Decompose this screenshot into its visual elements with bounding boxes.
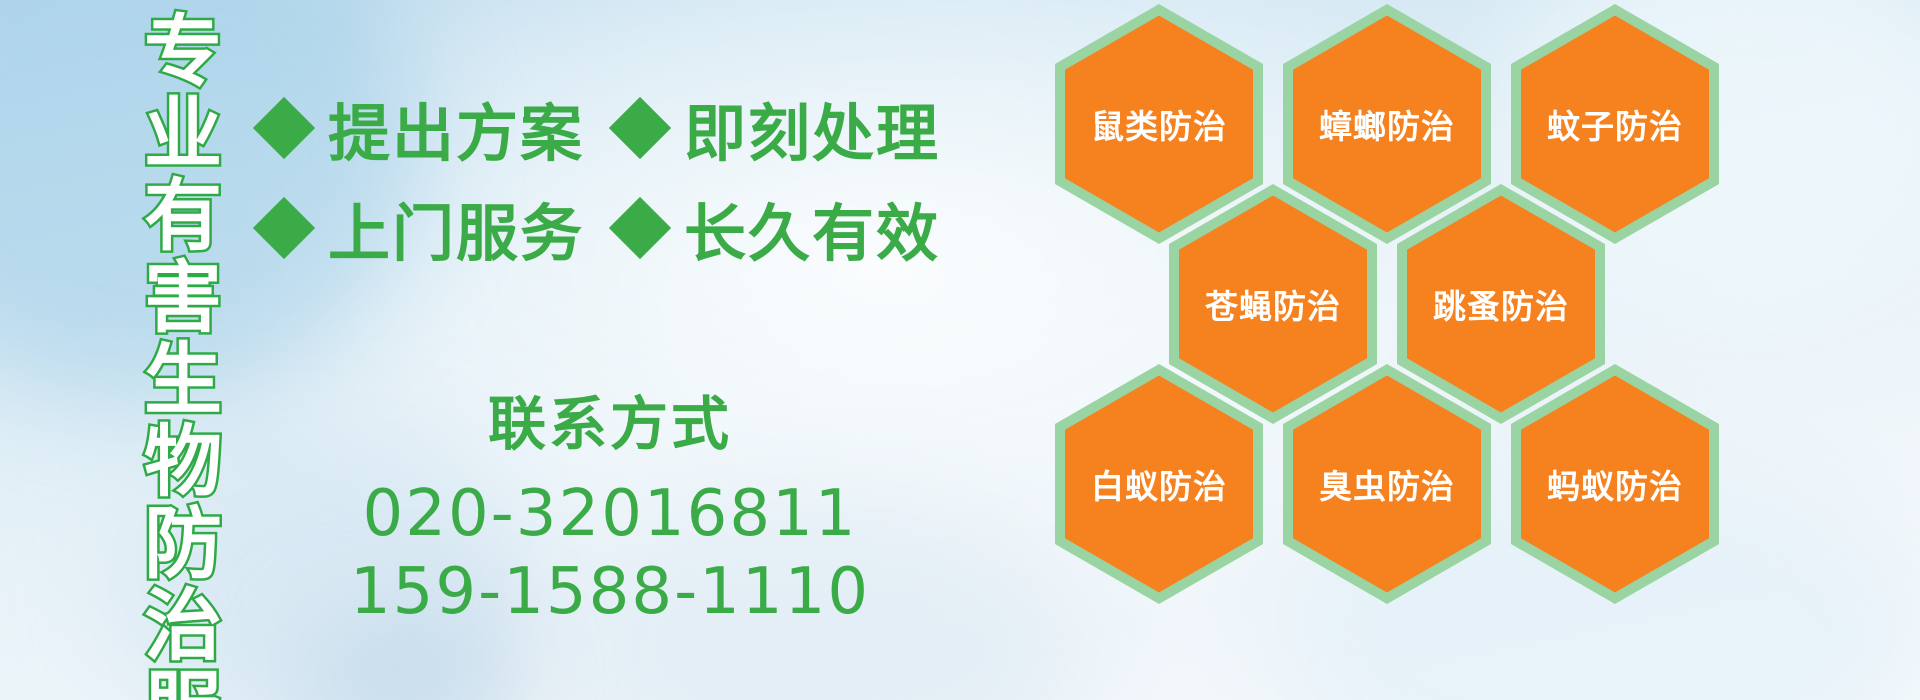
feature-item: 长久有效 — [618, 183, 940, 273]
hex-inner: 臭虫防治 — [1293, 376, 1481, 593]
feature-item: 即刻处理 — [618, 83, 940, 173]
diamond-bullet-icon — [609, 197, 671, 259]
feature-label: 提出方案 — [328, 83, 584, 173]
service-label: 蚂蚁防治 — [1547, 460, 1683, 508]
service-label: 蟑螂防治 — [1319, 100, 1455, 148]
service-label: 苍蝇防治 — [1205, 280, 1341, 328]
contact-block: 联系方式 020-32016811 159-1588-1110 — [310, 395, 910, 631]
hex-inner: 蟑螂防治 — [1293, 16, 1481, 233]
service-label: 鼠类防治 — [1091, 100, 1227, 148]
phone-number-mobile[interactable]: 159-1588-1110 — [310, 553, 910, 631]
feature-item: 上门服务 — [262, 183, 584, 273]
feature-row: 上门服务 长久有效 — [262, 178, 882, 278]
hex-inner: 蚂蚁防治 — [1521, 376, 1709, 593]
hex-inner: 跳蚤防治 — [1407, 196, 1595, 413]
hex-inner: 鼠类防治 — [1065, 16, 1253, 233]
service-label: 蚊子防治 — [1547, 100, 1683, 148]
diamond-bullet-icon — [609, 97, 671, 159]
service-label: 臭虫防治 — [1319, 460, 1455, 508]
feature-row: 提出方案 即刻处理 — [262, 78, 882, 178]
pest-control-banner: 专业有害生物防治服务 提出方案 即刻处理 上门服务 长久有效 联 — [0, 0, 1920, 700]
hex-inner: 蚊子防治 — [1521, 16, 1709, 233]
vertical-title: 专业有害生物防治服务 — [118, 10, 214, 700]
hex-inner: 苍蝇防治 — [1179, 196, 1367, 413]
feature-label: 长久有效 — [684, 183, 940, 273]
service-honeycomb: 鼠类防治 蟑螂防治 蚊子防治 苍蝇防治 跳蚤防治 白蚁防治 — [1055, 0, 1795, 682]
hex-inner: 白蚁防治 — [1065, 376, 1253, 593]
diamond-bullet-icon — [253, 97, 315, 159]
service-label: 白蚁防治 — [1091, 460, 1227, 508]
diamond-bullet-icon — [253, 197, 315, 259]
feature-label: 即刻处理 — [684, 83, 940, 173]
features-list: 提出方案 即刻处理 上门服务 长久有效 — [262, 78, 882, 278]
service-label: 跳蚤防治 — [1433, 280, 1569, 328]
feature-label: 上门服务 — [328, 183, 584, 273]
phone-number-landline[interactable]: 020-32016811 — [310, 475, 910, 553]
feature-item: 提出方案 — [262, 83, 584, 173]
contact-title: 联系方式 — [310, 395, 910, 453]
